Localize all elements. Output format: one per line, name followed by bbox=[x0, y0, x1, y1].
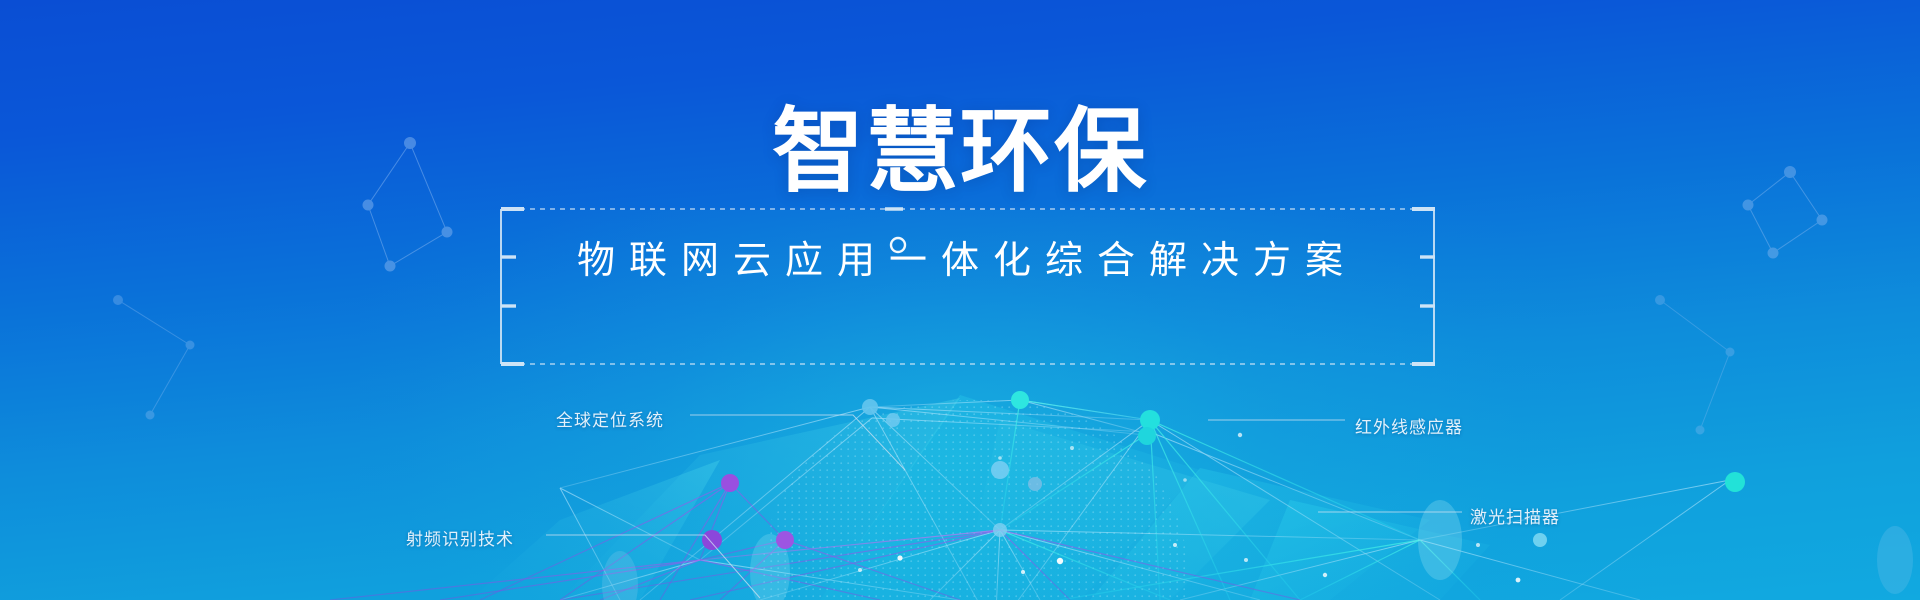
constellation-far-left bbox=[114, 296, 195, 420]
constellation-right bbox=[1743, 167, 1827, 259]
label-infrared-sensor: 红外线感应器 bbox=[1355, 413, 1463, 438]
subtitle-bracket-frame bbox=[501, 209, 1435, 364]
hero-banner: 智慧环保 物联网云应用一体化综合解决方案 全球定位系统 红外线感应器 射频识别技… bbox=[0, 0, 1920, 600]
accent-ring bbox=[891, 238, 905, 252]
label-rfid-technology: 射频识别技术 bbox=[406, 525, 514, 550]
background-graphics bbox=[0, 0, 1920, 600]
constellation-left bbox=[363, 138, 452, 272]
constellation-far-right bbox=[1656, 296, 1735, 435]
label-laser-scanner: 激光扫描器 bbox=[1470, 503, 1560, 528]
label-global-positioning-system: 全球定位系统 bbox=[556, 406, 664, 431]
